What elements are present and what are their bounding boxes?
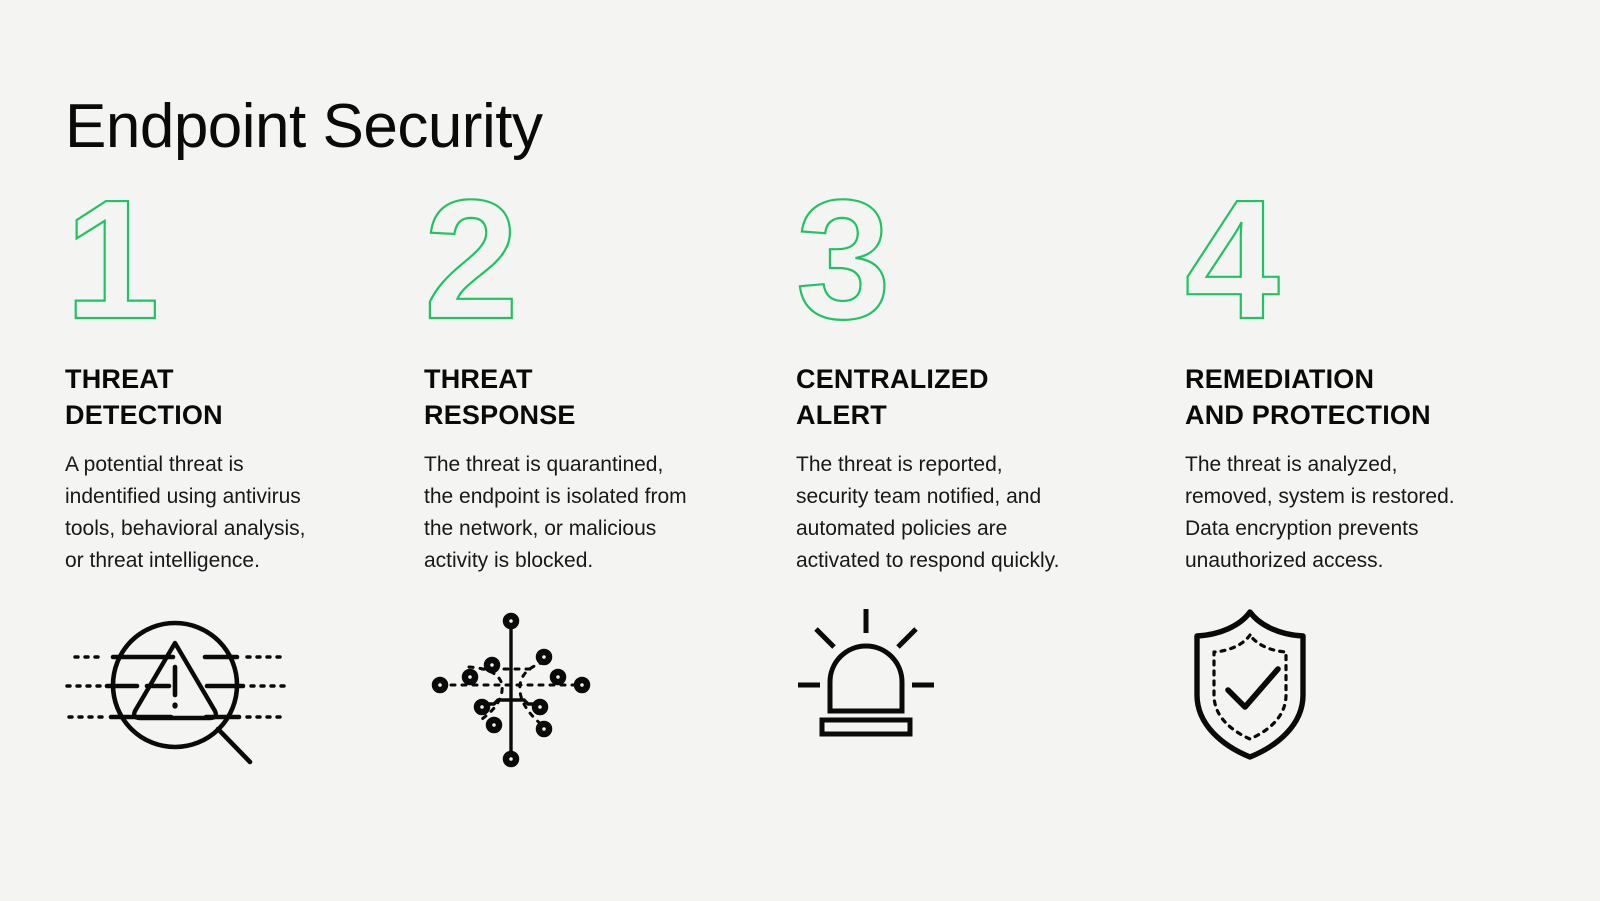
step-body-3: The threat is reported, security team no… — [796, 449, 1185, 577]
siren-beacon-icon — [796, 607, 1185, 782]
step-body-2: The threat is quarantined, the endpoint … — [424, 449, 796, 577]
numeral-glyph: 4 — [1185, 165, 1280, 355]
step-card-2: 2 THREAT RESPONSE The threat is quaranti… — [424, 196, 796, 782]
numeral-outline-3: 3 — [796, 196, 1185, 326]
numeral-outline-1: 1 — [65, 196, 424, 326]
numeral-outline-4: 4 — [1185, 196, 1535, 326]
step-heading-2: THREAT RESPONSE — [424, 361, 796, 433]
numeral-outline-2: 2 — [424, 196, 796, 326]
step-number-2: 2 — [424, 196, 796, 336]
magnifier-warning-icon — [65, 607, 424, 782]
numeral-glyph: 2 — [424, 165, 519, 355]
step-number-3: 3 — [796, 196, 1185, 336]
shield-check-icon — [1185, 607, 1535, 782]
step-heading-3: CENTRALIZED ALERT — [796, 361, 1185, 433]
step-card-1: 1 THREAT DETECTION A potential threat is… — [65, 196, 424, 782]
numeral-glyph: 1 — [65, 165, 160, 355]
step-body-4: The threat is analyzed, removed, system … — [1185, 449, 1535, 577]
network-isolation-icon — [424, 607, 796, 782]
step-card-4: 4 REMEDIATION AND PROTECTION The threat … — [1185, 196, 1535, 782]
steps-row: 1 THREAT DETECTION A potential threat is… — [65, 196, 1535, 782]
step-heading-1: THREAT DETECTION — [65, 361, 424, 433]
step-heading-4: REMEDIATION AND PROTECTION — [1185, 361, 1535, 433]
numeral-glyph: 3 — [796, 165, 891, 355]
step-body-1: A potential threat is indentified using … — [65, 449, 424, 577]
step-card-3: 3 CENTRALIZED ALERT The threat is report… — [796, 196, 1185, 782]
step-number-1: 1 — [65, 196, 424, 336]
infographic-page: Endpoint Security 1 THREAT DETECTION A p… — [0, 0, 1600, 901]
step-number-4: 4 — [1185, 196, 1535, 336]
page-title: Endpoint Security — [65, 94, 542, 159]
